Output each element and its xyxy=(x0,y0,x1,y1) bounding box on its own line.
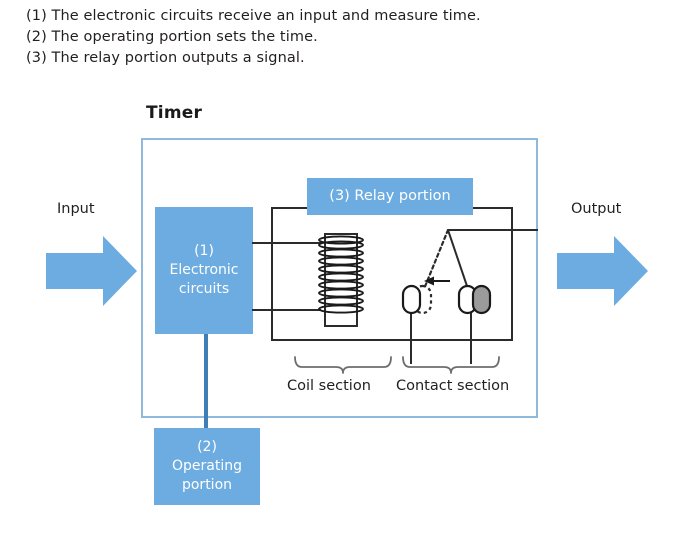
output-label: Output xyxy=(571,201,621,217)
box-relay-portion-label: (3) Relay portion xyxy=(329,187,450,206)
box-electronic-circuits-line2: circuits xyxy=(179,280,229,299)
coil-section-label: Coil section xyxy=(287,378,371,394)
output-arrow-icon xyxy=(557,236,648,306)
box-operating-portion-line1: Operating xyxy=(172,457,242,476)
contact-section-label: Contact section xyxy=(396,378,509,394)
connector-electronic-to-operating xyxy=(204,334,208,430)
box-electronic-circuits-number: (1) xyxy=(194,242,214,261)
box-relay-portion[interactable]: (3) Relay portion xyxy=(307,178,473,215)
box-operating-portion-number: (2) xyxy=(197,438,217,457)
timer-title: Timer xyxy=(146,103,202,123)
timer-block-diagram: Timer Input Output (1) Electronic circui… xyxy=(0,0,694,545)
input-label: Input xyxy=(57,201,95,217)
input-arrow-icon xyxy=(46,236,137,306)
box-operating-portion-line2: portion xyxy=(182,476,232,495)
box-electronic-circuits-line1: Electronic xyxy=(169,261,238,280)
box-electronic-circuits[interactable]: (1) Electronic circuits xyxy=(155,207,253,334)
box-operating-portion[interactable]: (2) Operating portion xyxy=(154,428,260,505)
